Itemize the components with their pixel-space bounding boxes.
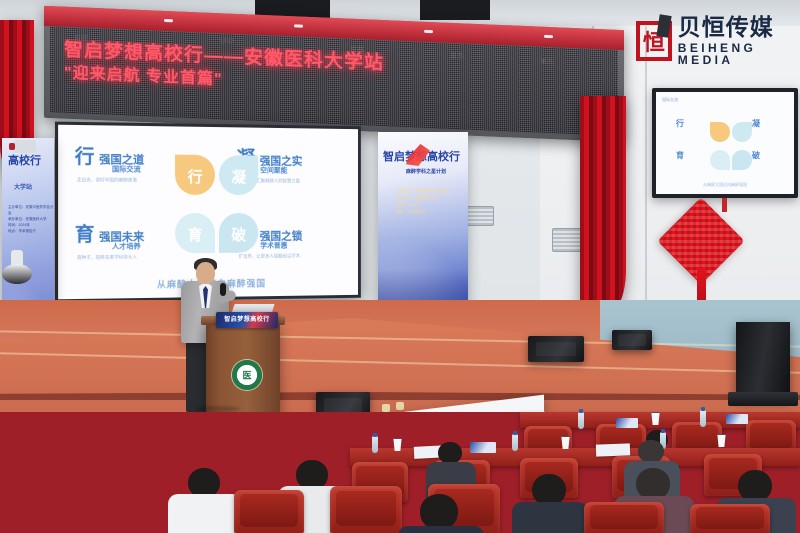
ceiling-panel-2 — [420, 0, 490, 20]
slide-leaf-1: 凝 — [219, 155, 258, 195]
slide-char-0: 行 — [75, 146, 95, 168]
rollup-center-sub: 麻醉学科之星计划 — [406, 168, 446, 175]
slide-sub-2: 人才培养 — [112, 241, 141, 251]
stage-prop-2 — [396, 402, 404, 410]
slide-leaf-char-3: 破 — [219, 224, 258, 245]
seat — [234, 490, 304, 533]
watermark-logo: 恒 贝恒传媒 BEIHENG MEDIA — [636, 16, 800, 66]
wall-vent-icon-2 — [466, 206, 494, 226]
rollup-banner-center: 智启梦想高校行 麻醉学科之星计划 主办单位：安徽中医药学会分会 承办单位：安徽医… — [378, 132, 468, 328]
rollup-center-line-1: 承办单位：安徽医科大学 — [396, 195, 449, 202]
water-bottle — [578, 412, 584, 429]
stage-monitor-speaker-3 — [612, 330, 652, 350]
slide-sub-0: 国际交流 — [112, 164, 141, 174]
speaker-head — [196, 262, 215, 284]
slide-detail-3: 扩边界，让更多人接触前沿学术 — [239, 253, 300, 259]
rollup-left-line-0: 主办单位：安徽中医药学会分会 — [8, 204, 54, 216]
ptz-camera-icon — [2, 250, 32, 284]
rollup-left-line-3: 地点：学术报告厅 — [8, 228, 54, 234]
seat — [584, 502, 664, 533]
rollup-center-line-3: 地点：学术报告厅 — [396, 209, 449, 216]
side-monitor-stand — [722, 198, 727, 212]
watermark-brand-en: BEIHENG MEDIA — [678, 42, 800, 66]
wall-camera-icon — [14, 140, 36, 153]
stage-curtain-right — [580, 96, 626, 321]
university-emblem-icon: 医 — [232, 360, 262, 390]
document-folder — [726, 414, 748, 424]
slide-sub-1: 空间聚能 — [260, 165, 287, 175]
side-monitor-title: 国际交流 — [662, 97, 678, 103]
watermark-brand-cn: 贝恒传媒 — [678, 16, 800, 39]
document-folder — [470, 442, 496, 453]
seat — [690, 504, 770, 533]
side-monitor-footer: 从麻醉大国迈向麻醉强国 — [656, 182, 794, 188]
water-bottle — [372, 436, 378, 453]
audience-area — [0, 412, 800, 533]
side-monitor-screen: 国际交流 行 凝 育 破 从麻醉大国迈向麻醉强国 — [656, 92, 794, 194]
watermark-logo-bar — [656, 14, 671, 38]
watermark-logo-mark: 恒 — [636, 21, 672, 61]
rollup-left-sub: 大学站 — [14, 182, 32, 191]
slide-detail-0: 走出去，讲好中国的麻醉故事 — [77, 177, 137, 183]
podium-nameplate: 智启梦想高校行 — [216, 312, 278, 328]
side-monitor-char-3: 破 — [752, 150, 760, 161]
rollup-left-title: 高校行 — [8, 152, 41, 168]
emblem-char: 医 — [242, 369, 251, 382]
microphone-icon — [220, 283, 226, 296]
slide-leaf-char-2: 育 — [175, 224, 215, 245]
rollup-center-line-0: 主办单位：安徽中医药学会分会 — [396, 188, 449, 195]
water-bottle — [512, 434, 518, 451]
side-monitor-char-0: 行 — [676, 118, 684, 129]
stage-prop-1 — [382, 404, 390, 412]
speaker-legs — [186, 340, 208, 412]
slide-leaf-2: 育 — [175, 213, 215, 253]
seat — [330, 486, 402, 533]
slide-leaf-3: 破 — [219, 213, 258, 253]
slide-detail-2: 育种子，培养未来学科带头人 — [77, 255, 137, 262]
line-array-speaker — [736, 322, 790, 398]
side-monitor: 国际交流 行 凝 育 破 从麻醉大国迈向麻醉强国 — [652, 88, 798, 198]
slide-sub-3: 学术普惠 — [260, 241, 287, 251]
document-folder — [616, 418, 638, 428]
photo-canvas: 监控 LED 屏幕 显示 单元 智启梦想高校行——安徽医科大学站 "迎来启航 专… — [0, 0, 800, 533]
slide-leaf-char-0: 行 — [175, 166, 215, 187]
water-bottle — [700, 410, 706, 427]
speaker-road-case — [728, 392, 798, 406]
slide-leaf-0: 行 — [175, 155, 215, 195]
side-monitor-char-2: 育 — [676, 150, 684, 161]
side-monitor-char-1: 凝 — [752, 118, 760, 129]
stage-monitor-speaker-2 — [528, 336, 584, 362]
slide-char-2: 育 — [75, 224, 95, 246]
rollup-center-line-2: 时间：2024年 — [396, 202, 449, 209]
slide-leaf-char-1: 凝 — [219, 166, 258, 187]
handout-paper — [596, 443, 630, 456]
